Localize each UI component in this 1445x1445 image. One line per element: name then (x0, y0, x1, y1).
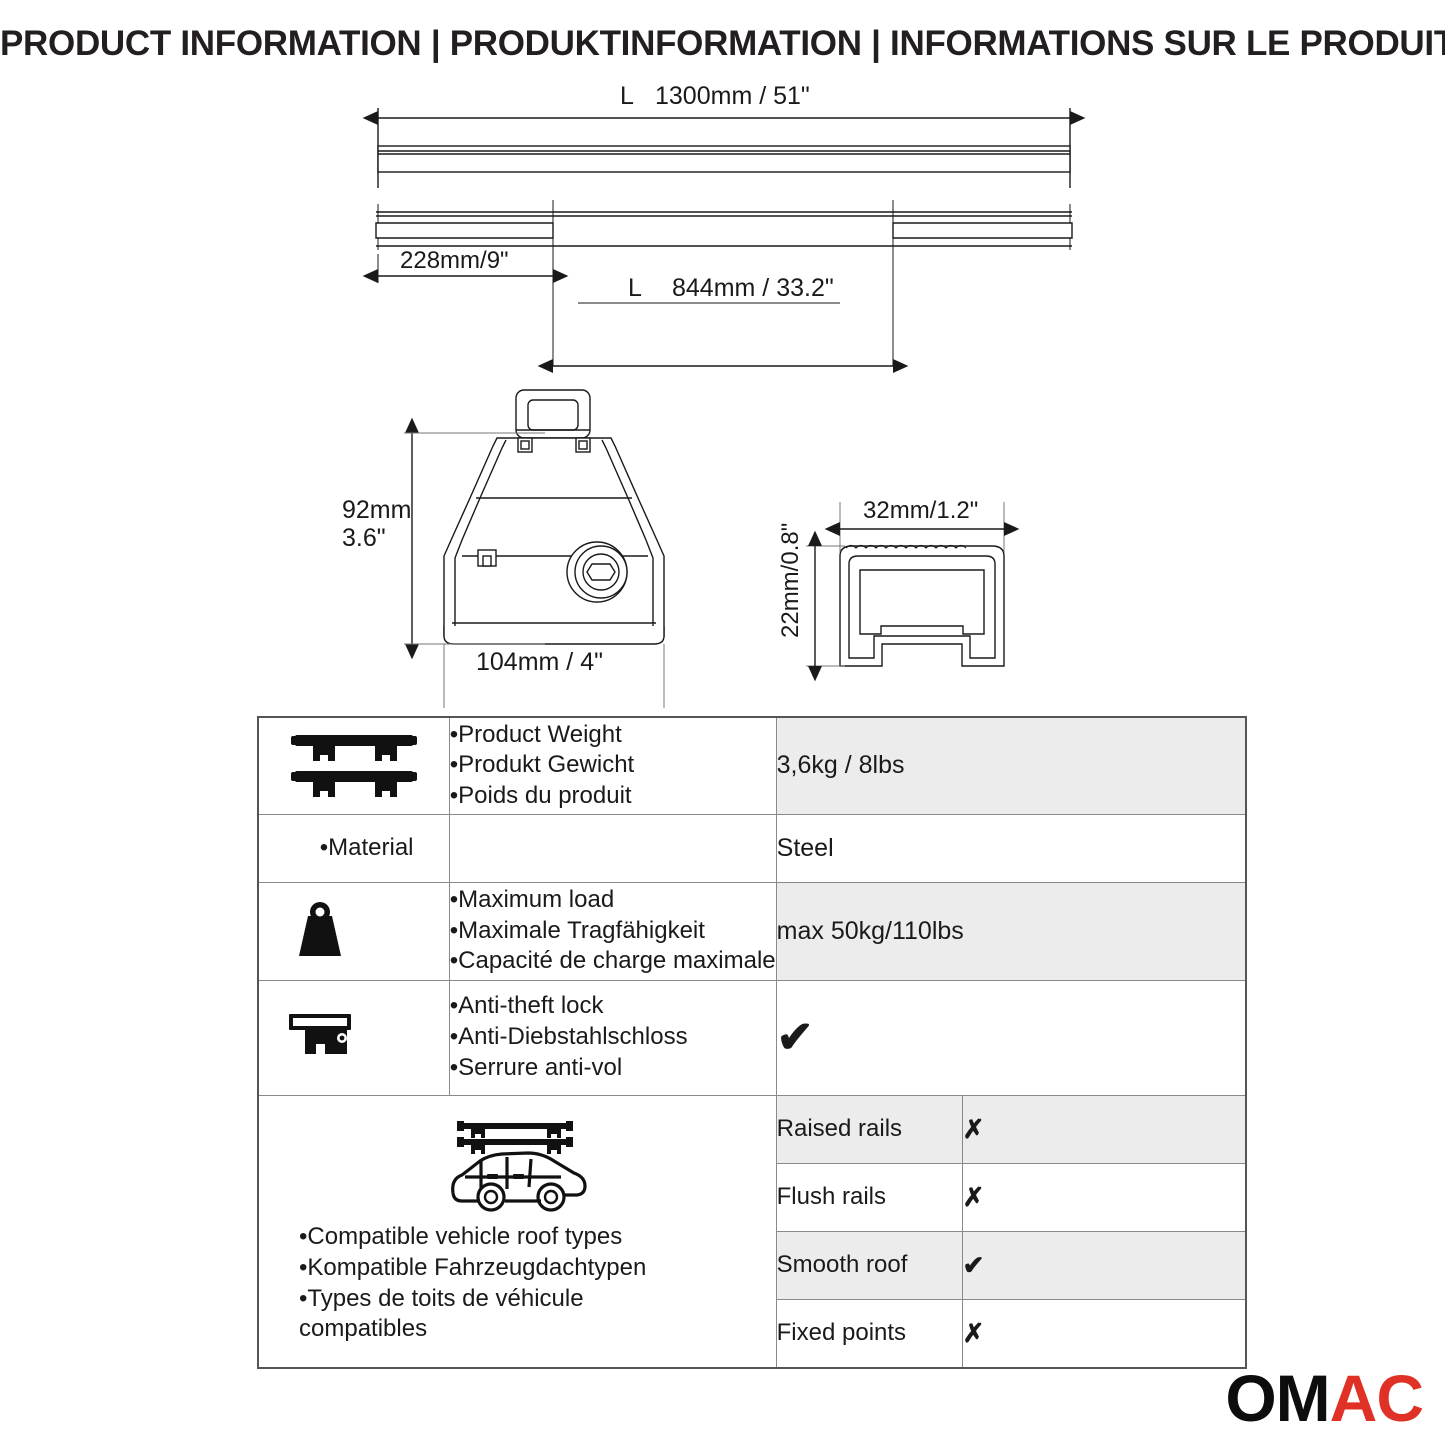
profile-height-value: 22mm/0.8" (777, 523, 804, 638)
label-line: •Serrure anti-vol (450, 1053, 776, 1084)
roof-type-row: Flush rails ✗ (777, 1163, 1245, 1231)
profile-width-value: 32mm/1.2" (863, 497, 978, 524)
material-labels: •Material (449, 814, 776, 882)
max-load-value: max 50kg/110lbs (776, 882, 1246, 980)
label-line: •Maximale Tragfähigkeit (450, 916, 776, 947)
end-offset-value: 228mm/9" (400, 247, 509, 274)
table-row: •Compatible vehicle roof types •Kompatib… (258, 1095, 1246, 1368)
foot-height-line1: 92mm (342, 496, 411, 524)
logo-text-ac: AC (1330, 1361, 1423, 1435)
overall-length-prefix: L (620, 82, 634, 110)
product-weight-labels: •Product Weight •Produkt Gewicht •Poids … (449, 717, 776, 814)
label-line: •Product Weight (450, 720, 776, 751)
table-row: •Maximum load •Maximale Tragfähigkeit •C… (258, 882, 1246, 980)
label-line: •Poids du produit (450, 781, 776, 812)
roof-type-row: Raised rails ✗ (777, 1096, 1245, 1164)
lock-icon-cell (258, 980, 449, 1095)
overall-length-value: 1300mm / 51" (655, 82, 810, 110)
table-row: •Anti-theft lock •Anti-Diebstahlschloss … (258, 980, 1246, 1095)
roof-types-table: Raised rails ✗ Flush rails ✗ Smooth roof… (777, 1096, 1245, 1367)
foot-width-value: 104mm / 4" (476, 648, 603, 676)
material-value: Steel (776, 814, 1246, 882)
weight-icon-cell (258, 882, 449, 980)
roof-types-description: •Compatible vehicle roof types •Kompatib… (258, 1095, 776, 1368)
label-line: •Maximum load (450, 885, 776, 916)
max-load-labels: •Maximum load •Maximale Tragfähigkeit •C… (449, 882, 776, 980)
crossbars-icon (289, 727, 419, 804)
roof-type-mark: ✔ (962, 1231, 1245, 1299)
roof-type-name: Raised rails (777, 1096, 963, 1164)
roof-types-table-cell: Raised rails ✗ Flush rails ✗ Smooth roof… (776, 1095, 1246, 1368)
roof-type-mark: ✗ (962, 1163, 1245, 1231)
label-line: •Anti-theft lock (450, 991, 776, 1022)
logo-text-om: OM (1225, 1361, 1329, 1435)
omac-logo: OMAC (1225, 1365, 1423, 1431)
roof-types-labels: •Compatible vehicle roof types •Kompatib… (259, 1222, 776, 1345)
car-with-rack-icon (443, 1117, 591, 1218)
anti-theft-labels: •Anti-theft lock •Anti-Diebstahlschloss … (449, 980, 776, 1095)
page-title: PRODUCT INFORMATION | PRODUKTINFORMATION… (0, 24, 1445, 64)
roof-type-name: Fixed points (777, 1299, 963, 1367)
roof-type-name: Smooth roof (777, 1231, 963, 1299)
specification-table: •Product Weight •Produkt Gewicht •Poids … (257, 716, 1247, 1369)
span-length-value: 844mm / 33.2" (672, 274, 834, 302)
table-row: •Material Steel (258, 814, 1246, 882)
label-line: compatibles (299, 1314, 776, 1345)
label-line: •Kompatible Fahrzeugdachtypen (299, 1253, 776, 1284)
product-weight-value: 3,6kg / 8lbs (776, 717, 1246, 814)
crossbars-icon-cell (258, 717, 449, 814)
table-row: •Product Weight •Produkt Gewicht •Poids … (258, 717, 1246, 814)
label-line: •Material (320, 833, 776, 864)
roof-type-row: Fixed points ✗ (777, 1299, 1245, 1367)
roof-type-mark: ✗ (962, 1096, 1245, 1164)
technical-drawing: L 1300mm / 51" 228mm/9" L 844mm / 33.2" … (0, 78, 1445, 708)
weight-icon (289, 898, 351, 965)
roof-type-row: Smooth roof ✔ (777, 1231, 1245, 1299)
product-information-sheet: PRODUCT INFORMATION | PRODUKTINFORMATION… (0, 0, 1445, 1445)
label-line: •Types de toits de véhicule (299, 1284, 776, 1315)
roof-type-mark: ✗ (962, 1299, 1245, 1367)
label-line: •Anti-Diebstahlschloss (450, 1022, 776, 1053)
anti-theft-value: ✔ (776, 980, 1246, 1095)
label-line: •Capacité de charge maximale (450, 946, 776, 977)
checkmark-icon: ✔ (777, 1013, 814, 1062)
label-line: •Compatible vehicle roof types (299, 1222, 776, 1253)
lock-icon (287, 1008, 363, 1067)
label-line: •Produkt Gewicht (450, 750, 776, 781)
foot-height-line2: 3.6" (342, 524, 386, 552)
span-length-prefix: L (628, 274, 642, 302)
roof-type-name: Flush rails (777, 1163, 963, 1231)
